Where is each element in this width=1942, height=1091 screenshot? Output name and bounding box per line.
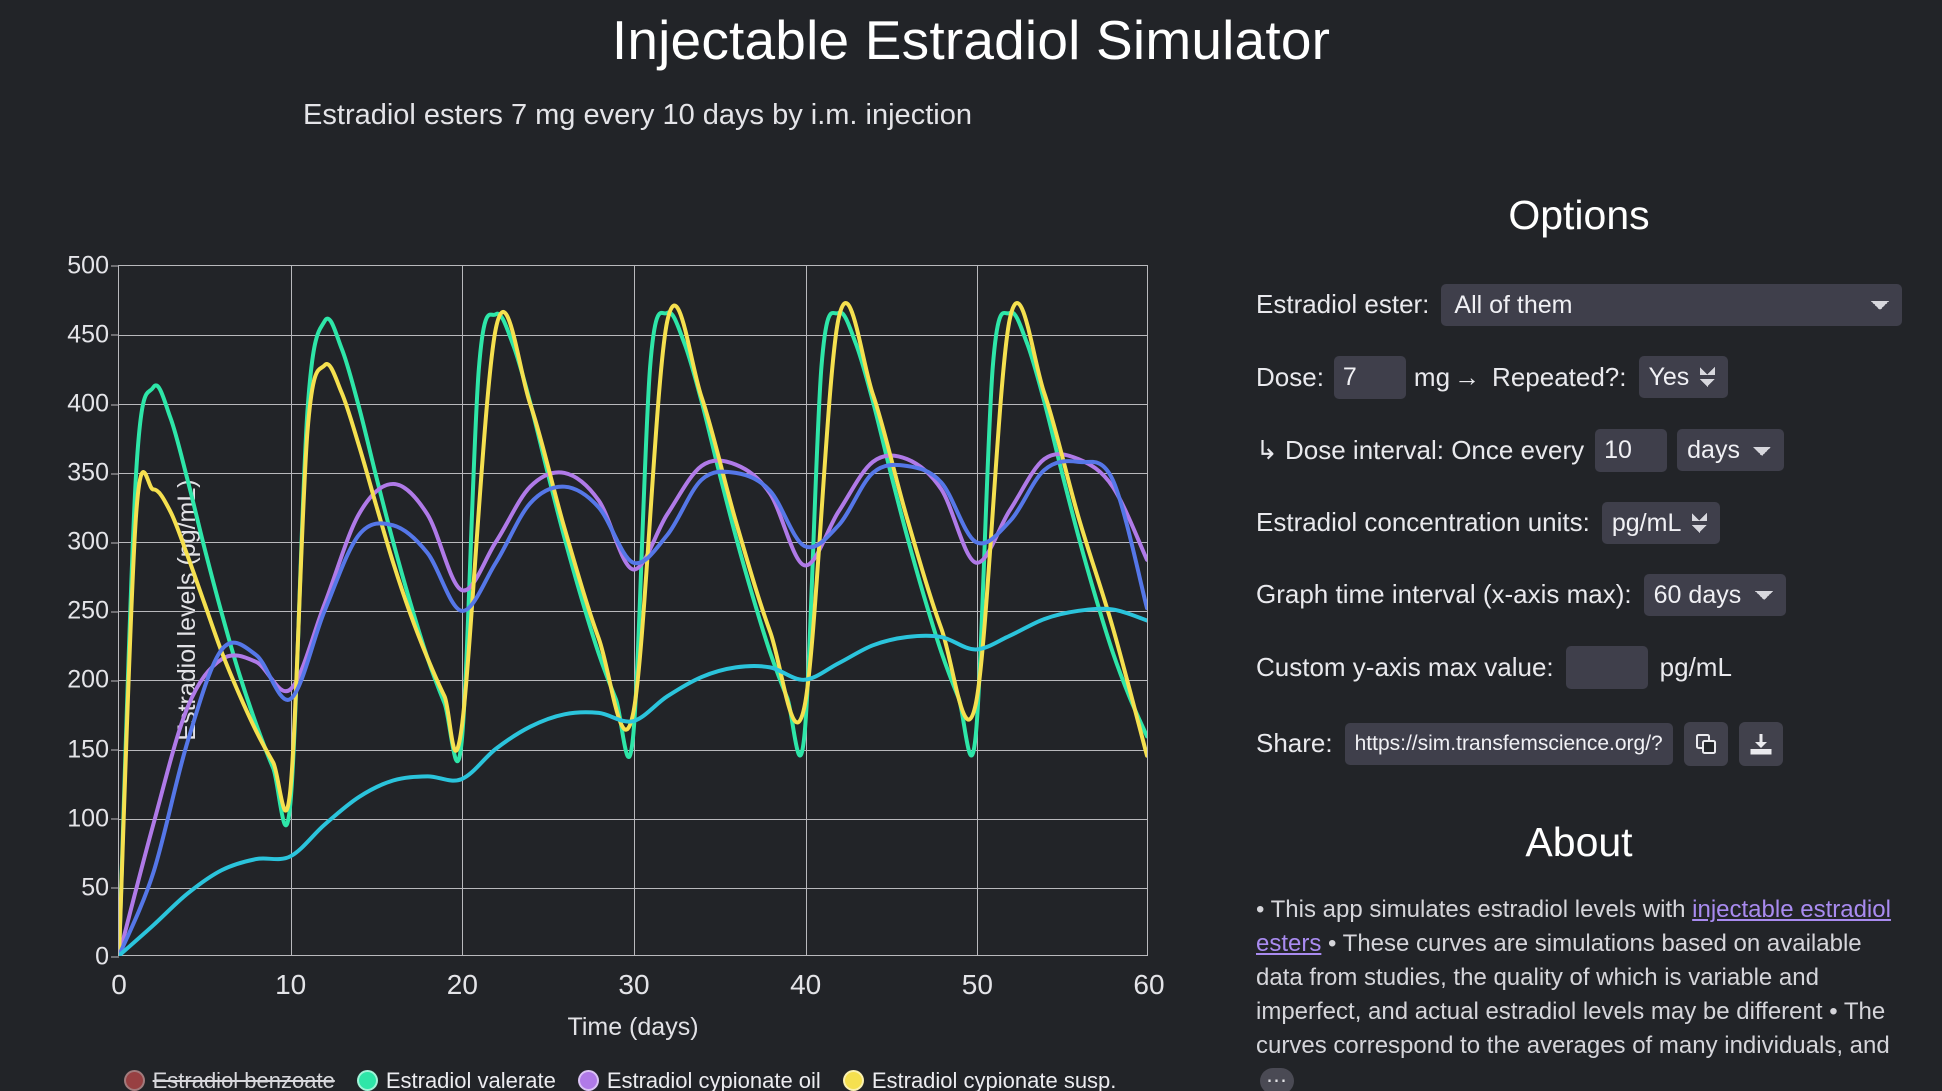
legend-item-label: Estradiol benzoate [153,1068,335,1091]
interval-label: ↳ Dose interval: Once every [1256,435,1584,466]
x-axis-tick-label: 60 [1133,969,1164,1001]
y-axis-tick-label: 100 [67,804,109,833]
option-row-dose: Dose: mg → Repeated?: Yes [1256,356,1902,399]
chart-panel: Estradiol esters 7 mg every 10 days by i… [0,73,1240,1073]
plot-wrapper: Estradiol levels (pg/mL) 050100150200250… [0,73,1240,1073]
interval-unit-select[interactable]: days [1677,429,1784,471]
x-axis-tick-label: 40 [790,969,821,1001]
time-interval-label: Graph time interval (x-axis max): [1256,579,1632,610]
options-heading: Options [1256,73,1902,236]
units-label: Estradiol concentration units: [1256,507,1590,538]
legend-row: Estradiol benzoateEstradiol valerateEstr… [0,1068,1240,1091]
y-axis-tick-label: 500 [67,251,109,280]
legend-item-label: Estradiol valerate [386,1068,556,1091]
download-icon-button[interactable] [1739,722,1783,766]
about-text-after: • These curves are simulations based on … [1256,930,1890,1059]
about-expand-button[interactable]: ⋯ [1260,1068,1294,1091]
repeated-select[interactable]: Yes [1639,356,1728,398]
about-text: • This app simulates estradiol levels wi… [1256,893,1902,1091]
side-panel: Options Estradiol ester: All of them Dos… [1240,73,1942,1073]
y-axis-tick-label: 350 [67,459,109,488]
y-axis-tick-label: 250 [67,597,109,626]
x-axis-tick-label: 20 [447,969,478,1001]
y-axis-tick-label: 0 [95,942,109,971]
time-interval-select[interactable]: 60 days [1644,574,1786,616]
legend-color-dot [578,1070,599,1091]
legend-color-dot [124,1070,145,1091]
dose-unit: mg [1414,362,1450,393]
legend-color-dot [843,1070,864,1091]
option-row-units: Estradiol concentration units: pg/mL [1256,502,1902,544]
legend-item-label: Estradiol cypionate susp. [872,1068,1117,1091]
x-axis-tick-label: 50 [962,969,993,1001]
about-heading: About [1256,766,1902,863]
download-icon [1749,732,1773,756]
share-url-input[interactable] [1345,723,1673,765]
legend-item-label: Estradiol cypionate oil [607,1068,821,1091]
ester-select[interactable]: All of them [1441,284,1902,326]
option-row-time-interval: Graph time interval (x-axis max): 60 day… [1256,574,1902,616]
interval-input[interactable] [1595,429,1667,472]
legend-item[interactable]: Estradiol benzoate [124,1068,335,1091]
about-text-before: • This app simulates estradiol levels wi… [1256,896,1692,923]
arrow-icon: → [1454,362,1480,393]
legend-color-dot [357,1070,378,1091]
ymax-input[interactable] [1566,646,1648,689]
page-title: Injectable Estradiol Simulator [0,0,1942,73]
x-axis-tick-label: 0 [111,969,127,1001]
option-row-ymax: Custom y-axis max value: pg/mL [1256,646,1902,689]
chart-curves [119,266,1147,956]
option-row-share: Share: [1256,722,1902,766]
y-axis-tick-label: 300 [67,528,109,557]
copy-icon [1694,732,1718,756]
option-row-ester: Estradiol ester: All of them [1256,284,1902,326]
copy-icon-button[interactable] [1684,722,1728,766]
y-axis-tick-label: 150 [67,735,109,764]
units-select[interactable]: pg/mL [1602,502,1720,544]
main-layout: Estradiol esters 7 mg every 10 days by i… [0,73,1942,1073]
chart-series-line [119,609,1147,956]
dose-label: Dose: [1256,362,1324,393]
option-row-interval: ↳ Dose interval: Once every days [1256,429,1902,472]
y-axis-tick-label: 450 [67,320,109,349]
chart-legend: Estradiol benzoateEstradiol valerateEstr… [0,1068,1240,1091]
x-axis-tick-label: 30 [618,969,649,1001]
dose-input[interactable] [1334,356,1406,399]
y-axis-tick-label: 200 [67,666,109,695]
y-axis-tick-label: 400 [67,390,109,419]
x-axis-tick-label: 10 [275,969,306,1001]
ymax-unit: pg/mL [1660,652,1732,683]
ester-label: Estradiol ester: [1256,289,1429,320]
share-label: Share: [1256,728,1333,759]
plot-area: Estradiol levels (pg/mL) 050100150200250… [118,265,1148,956]
ymax-label: Custom y-axis max value: [1256,652,1554,683]
legend-item[interactable]: Estradiol valerate [357,1068,556,1091]
legend-item[interactable]: Estradiol cypionate oil [578,1068,821,1091]
repeated-label: Repeated?: [1492,362,1626,393]
legend-item[interactable]: Estradiol cypionate susp. [843,1068,1117,1091]
x-axis-label: Time (days) [119,1013,1147,1042]
y-axis-tick-label: 50 [81,873,109,902]
